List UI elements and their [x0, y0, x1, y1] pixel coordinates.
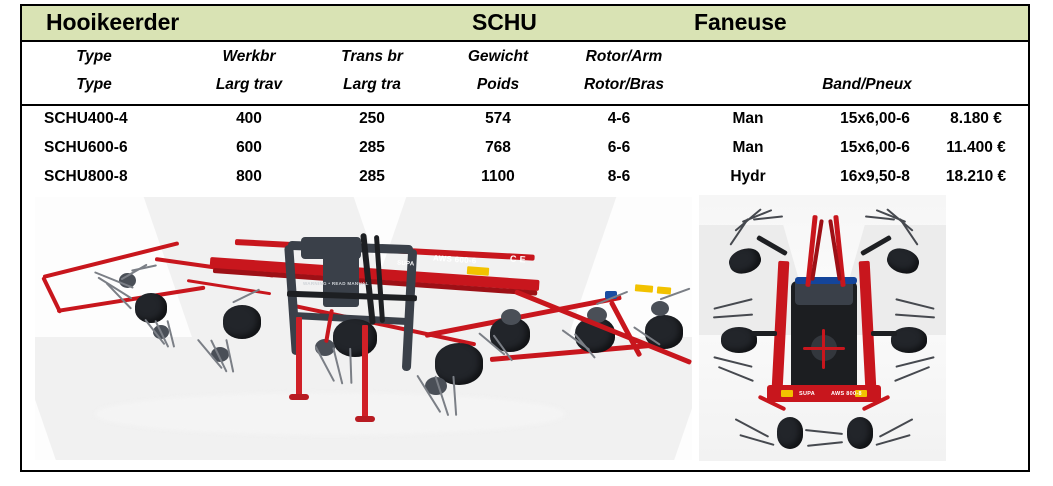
- decal-brand: SUPA: [799, 391, 815, 397]
- rotor-wheel: [135, 293, 167, 323]
- decal-warning-text: WARNING • READ MANUAL: [303, 281, 369, 286]
- rotor-wheel: [223, 305, 261, 339]
- rotor-wheel: [847, 417, 873, 449]
- support-leg-foot: [289, 394, 309, 400]
- cell-trans-br: 285: [359, 168, 385, 186]
- header-type-fr: Type: [76, 76, 112, 94]
- cell-werkbr: 800: [236, 168, 262, 186]
- decal-model: AWS 800-8: [831, 391, 862, 397]
- cell-band-pneux: 15x6,00-6: [840, 110, 910, 128]
- table-header: Type Werkbr Trans br Gewicht Rotor/Arm T…: [22, 42, 1028, 106]
- spec-table: Hooikeerder SCHU Faneuse Type Werkbr Tra…: [20, 4, 1030, 472]
- rotor-hub: [651, 301, 669, 316]
- cell-band-pneux: 16x9,50-8: [840, 168, 910, 186]
- support-leg: [362, 325, 368, 419]
- table-body: SCHU400-4 400 250 574 4-6 Man 15x6,00-6 …: [22, 106, 1028, 194]
- title-brand: SCHU: [472, 9, 537, 36]
- header-rotor-bras: Rotor/Bras: [584, 76, 664, 94]
- cell-gewicht: 1100: [481, 168, 515, 186]
- cell-drive: Hydr: [730, 168, 765, 186]
- table-row: SCHU400-4 400 250 574 4-6 Man 15x6,00-6 …: [22, 106, 1028, 135]
- ground-shadow: [95, 393, 565, 435]
- header-werkbr: Werkbr: [222, 48, 275, 66]
- cell-rotor-arm: 6-6: [608, 139, 630, 157]
- header-larg-trav: Larg trav: [216, 76, 282, 94]
- header-larg-tra: Larg tra: [343, 76, 401, 94]
- product-photo-main: SUPA AWS 600-6 C E WARNING • READ MANUAL: [35, 197, 692, 460]
- cell-type: SCHU600-6: [44, 139, 128, 157]
- title-french: Faneuse: [694, 9, 787, 36]
- cell-price: 11.400 €: [946, 139, 1005, 157]
- header-gewicht: Gewicht: [468, 48, 528, 66]
- rotor-arm: [751, 331, 777, 336]
- cell-gewicht: 574: [485, 110, 511, 128]
- cell-type: SCHU800-8: [44, 168, 128, 186]
- gearbox-housing: [301, 237, 361, 259]
- cell-drive: Man: [733, 139, 764, 157]
- rotor-arm: [871, 331, 897, 336]
- cell-gewicht: 768: [485, 139, 511, 157]
- warning-label-icon: [657, 286, 672, 294]
- header-poids: Poids: [477, 76, 519, 94]
- cell-rotor-arm: 8-6: [608, 168, 630, 186]
- cell-werkbr: 600: [236, 139, 262, 157]
- warning-label-icon: [467, 266, 490, 276]
- warning-label-icon: [781, 390, 793, 397]
- cell-price: 8.180 €: [950, 110, 1002, 128]
- header-type-nl: Type: [76, 48, 112, 66]
- support-leg-foot: [355, 416, 375, 422]
- warning-label-icon: [635, 284, 654, 293]
- hitch-bar-blue: [795, 277, 857, 284]
- center-cross: [822, 329, 825, 369]
- photo-area: SUPA AWS 600-6 C E WARNING • READ MANUAL: [22, 194, 1028, 467]
- rotor-wheel: [333, 319, 377, 357]
- cell-drive: Man: [733, 110, 764, 128]
- decal-brand: SUPA: [397, 260, 415, 267]
- table-row: SCHU600-6 600 285 768 6-6 Man 15x6,00-6 …: [22, 135, 1028, 164]
- support-leg: [296, 317, 302, 397]
- rotor-hub: [501, 309, 521, 325]
- cell-trans-br: 250: [359, 110, 385, 128]
- rotor-wheel: [777, 417, 803, 449]
- cell-type: SCHU400-4: [44, 110, 128, 128]
- table-title-band: Hooikeerder SCHU Faneuse: [22, 6, 1028, 42]
- cell-rotor-arm: 4-6: [608, 110, 630, 128]
- header-rotor-arm: Rotor/Arm: [586, 48, 663, 66]
- table-row: SCHU800-8 800 285 1100 8-6 Hydr 16x9,50-…: [22, 164, 1028, 193]
- header-trans-br: Trans br: [341, 48, 403, 66]
- ce-mark-icon: C E: [510, 253, 527, 264]
- screenshot-root: Hooikeerder SCHU Faneuse Type Werkbr Tra…: [0, 0, 1053, 486]
- product-photo-secondary: AWS 800-8 SUPA: [699, 195, 946, 461]
- cell-trans-br: 285: [359, 139, 385, 157]
- title-dutch: Hooikeerder: [46, 9, 179, 36]
- cell-band-pneux: 15x6,00-6: [840, 139, 910, 157]
- cell-price: 18.210 €: [946, 168, 1006, 186]
- cell-werkbr: 400: [236, 110, 262, 128]
- header-band-pneux: Band/Pneux: [822, 76, 912, 94]
